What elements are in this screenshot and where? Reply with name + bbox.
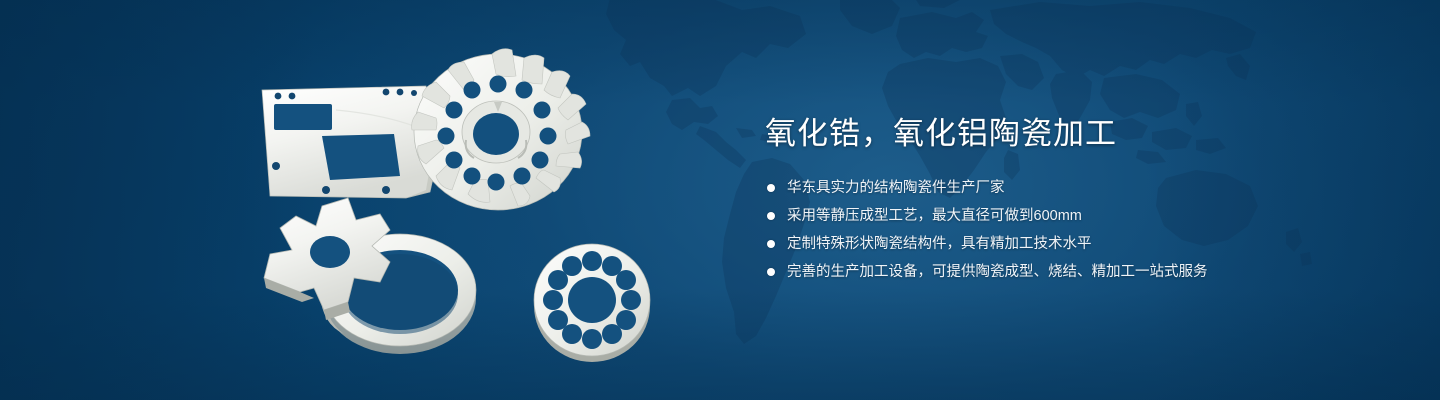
perforated-ceramic-disc	[534, 244, 650, 362]
feature-item: 华东具实力的结构陶瓷件生产厂家	[765, 178, 1385, 199]
feature-item-label: 采用等静压成型工艺，最大直径可做到600mm	[787, 208, 1082, 224]
machined-ceramic-plate	[262, 86, 438, 198]
feature-item-label: 定制特殊形状陶瓷结构件，具有精加工技术水平	[787, 236, 1092, 252]
bullet-dot-icon	[767, 240, 775, 248]
feature-list: 华东具实力的结构陶瓷件生产厂家 采用等静压成型工艺，最大直径可做到600mm 定…	[765, 178, 1385, 283]
bullet-dot-icon	[767, 212, 775, 220]
ceramic-impeller-disc	[412, 49, 590, 210]
banner-copy: 氧化锆，氧化铝陶瓷加工 华东具实力的结构陶瓷件生产厂家 采用等静压成型工艺，最大…	[765, 112, 1385, 290]
bullet-dot-icon	[767, 268, 775, 276]
feature-item-label: 华东具实力的结构陶瓷件生产厂家	[787, 180, 1005, 196]
hero-banner: 氧化锆，氧化铝陶瓷加工 华东具实力的结构陶瓷件生产厂家 采用等静压成型工艺，最大…	[0, 0, 1440, 400]
feature-item: 完善的生产加工设备，可提供陶瓷成型、烧结、精加工一站式服务	[765, 262, 1385, 283]
feature-item: 定制特殊形状陶瓷结构件，具有精加工技术水平	[765, 234, 1385, 255]
feature-item-label: 完善的生产加工设备，可提供陶瓷成型、烧结、精加工一站式服务	[787, 264, 1208, 280]
ceramic-parts-photo	[230, 40, 670, 380]
banner-headline: 氧化锆，氧化铝陶瓷加工	[765, 112, 1385, 156]
bullet-dot-icon	[767, 184, 775, 192]
feature-item: 采用等静压成型工艺，最大直径可做到600mm	[765, 206, 1385, 227]
